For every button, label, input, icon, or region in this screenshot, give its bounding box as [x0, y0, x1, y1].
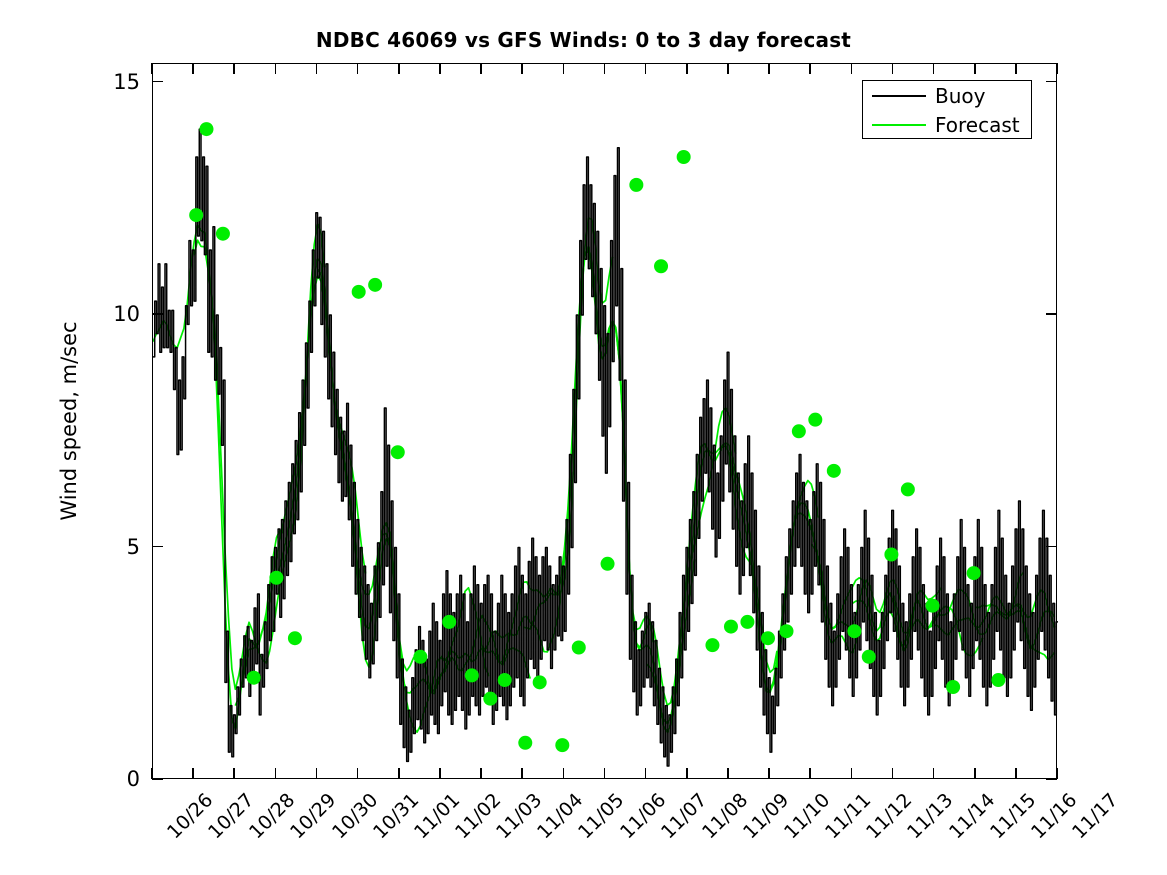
- forecast-marker-dot: [189, 208, 203, 222]
- forecast-marker-dot: [465, 668, 479, 682]
- forecast-marker-dot: [761, 631, 775, 645]
- forecast-marker-dot: [901, 482, 915, 496]
- y-tick-label: 10: [90, 302, 140, 326]
- x-tick-label: 11/07: [657, 789, 711, 843]
- y-tick-label: 5: [90, 535, 140, 559]
- forecast-marker-dot: [247, 671, 261, 685]
- forecast-marker-dot: [199, 122, 213, 136]
- legend-label-forecast: Forecast: [935, 115, 1020, 135]
- forecast-marker-dot: [926, 599, 940, 613]
- x-tick-label: 11/10: [780, 789, 834, 843]
- x-tick-label: 11/06: [616, 789, 670, 843]
- forecast-marker-dot: [967, 566, 981, 580]
- legend-label-buoy: Buoy: [935, 86, 985, 106]
- forecast-marker-dot: [269, 571, 283, 585]
- y-axis-label: Wind speed, m/sec: [57, 186, 81, 656]
- forecast-marker-dot: [792, 424, 806, 438]
- x-tick-label: 11/12: [862, 789, 916, 843]
- legend-entry-forecast: Forecast: [863, 110, 1031, 139]
- x-tick-label: 10/29: [286, 789, 340, 843]
- forecast-marker-dot: [483, 692, 497, 706]
- forecast-trace: [318, 269, 448, 693]
- forecast-marker-dot: [413, 650, 427, 664]
- forecast-marker-dot: [368, 278, 382, 292]
- forecast-marker-dot: [705, 638, 719, 652]
- legend-swatch-forecast: [872, 124, 926, 126]
- forecast-marker-dot: [740, 615, 754, 629]
- forecast-marker-dot: [862, 650, 876, 664]
- y-tick-label: 15: [90, 70, 140, 94]
- forecast-marker-dot: [991, 673, 1005, 687]
- legend-swatch-buoy: [872, 95, 926, 97]
- forecast-marker-dot: [847, 624, 861, 638]
- y-tick-label: 0: [90, 767, 140, 791]
- forecast-marker-dot: [808, 413, 822, 427]
- x-tick-label: 11/03: [492, 789, 546, 843]
- chart-figure: NDBC 46069 vs GFS Winds: 0 to 3 day fore…: [0, 0, 1167, 875]
- forecast-marker-dot: [946, 680, 960, 694]
- x-tick-label: 10/28: [245, 789, 299, 843]
- forecast-marker-dot: [629, 178, 643, 192]
- plot-canvas: [153, 64, 1058, 780]
- x-tick-label: 10/27: [204, 789, 258, 843]
- x-tick-label: 10/30: [328, 789, 382, 843]
- forecast-series: [153, 218, 1055, 732]
- forecast-marker-dot: [518, 736, 532, 750]
- forecast-marker-dot: [572, 640, 586, 654]
- x-tick-label: 10/26: [163, 789, 217, 843]
- x-tick-label: 11/08: [698, 789, 752, 843]
- forecast-marker-dot: [216, 227, 230, 241]
- forecast-marker-dot: [601, 557, 615, 571]
- buoy-stair-line: [153, 129, 1058, 766]
- chart-legend: Buoy Forecast: [862, 80, 1032, 139]
- forecast-marker-dot: [555, 738, 569, 752]
- plot-area: [152, 63, 1057, 779]
- forecast-marker-dot: [654, 259, 668, 273]
- y-axis-label-container: Wind speed, m/sec: [62, 63, 92, 779]
- forecast-marker-dot: [533, 675, 547, 689]
- forecast-marker-dot: [352, 285, 366, 299]
- x-tick-label: 10/31: [369, 789, 423, 843]
- forecast-marker-dot: [780, 624, 794, 638]
- x-tick-label: 11/05: [574, 789, 628, 843]
- forecast-marker-dot: [724, 620, 738, 634]
- forecast-marker-dot: [677, 150, 691, 164]
- x-tick-label: 11/15: [986, 789, 1040, 843]
- x-tick-label: 11/02: [451, 789, 505, 843]
- forecast-marker-dot: [391, 445, 405, 459]
- forecast-marker-dot: [884, 548, 898, 562]
- forecast-marker-dot: [827, 464, 841, 478]
- x-tick-label: 11/11: [821, 789, 875, 843]
- x-tick-label: 11/13: [903, 789, 957, 843]
- forecast-marker-dot: [442, 615, 456, 629]
- x-tick-label: 11/04: [533, 789, 587, 843]
- buoy-series: [153, 129, 1058, 766]
- x-tick-label: 11/16: [1027, 789, 1081, 843]
- forecast-marker-dot: [288, 631, 302, 645]
- chart-title: NDBC 46069 vs GFS Winds: 0 to 3 day fore…: [0, 28, 1167, 52]
- x-tick-label: 11/14: [945, 789, 999, 843]
- x-tick-label: 11/17: [1068, 789, 1122, 843]
- forecast-marker-dot: [498, 673, 512, 687]
- x-tick-label: 11/09: [739, 789, 793, 843]
- x-tick-label: 11/01: [410, 789, 464, 843]
- legend-entry-buoy: Buoy: [863, 81, 1031, 110]
